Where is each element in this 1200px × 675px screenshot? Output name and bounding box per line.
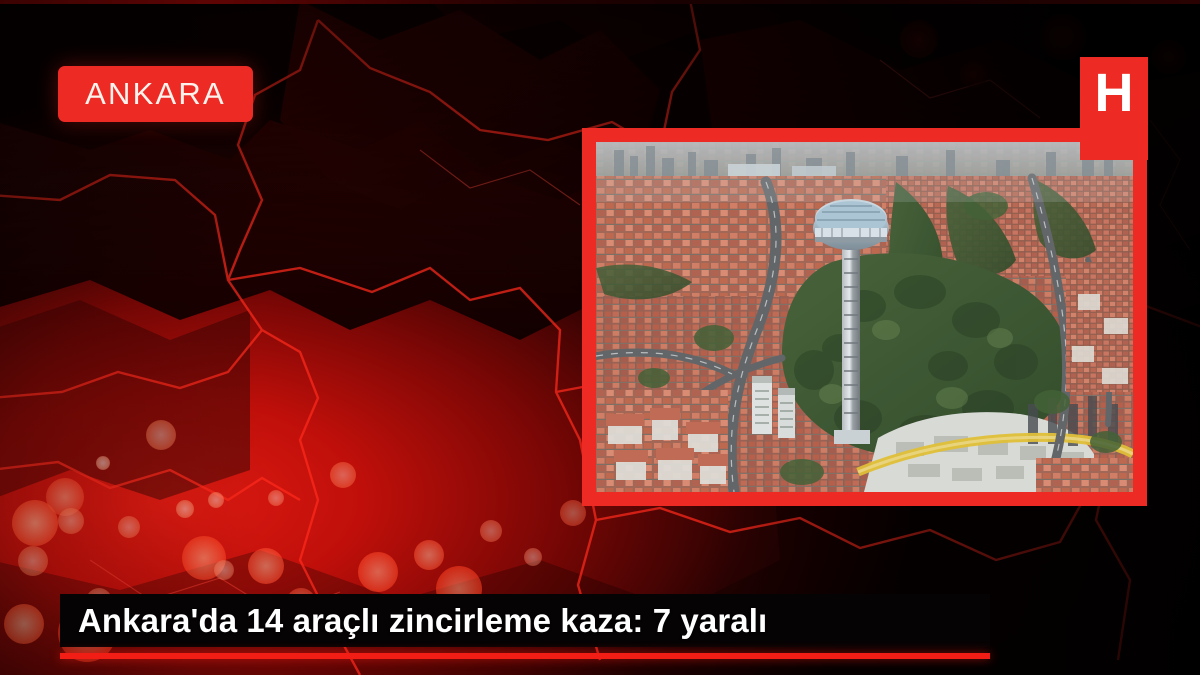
aerial-city-illustration xyxy=(596,142,1133,492)
top-accent-strip xyxy=(0,0,1200,4)
photo-ankara-aerial xyxy=(596,142,1133,492)
headline-bar: Ankara'da 14 araçlı zincirleme kaza: 7 y… xyxy=(60,594,990,647)
headline-underline-rule xyxy=(60,653,990,659)
headline-text: Ankara'da 14 araçlı zincirleme kaza: 7 y… xyxy=(60,602,767,640)
city-badge-label: ANKARA xyxy=(85,76,226,112)
city-badge: ANKARA xyxy=(58,66,253,122)
h-logo-icon: H xyxy=(1080,57,1148,129)
photo-frame xyxy=(582,128,1147,506)
news-card: ANKARA xyxy=(0,0,1200,675)
brand-logo[interactable]: H xyxy=(1080,57,1148,160)
